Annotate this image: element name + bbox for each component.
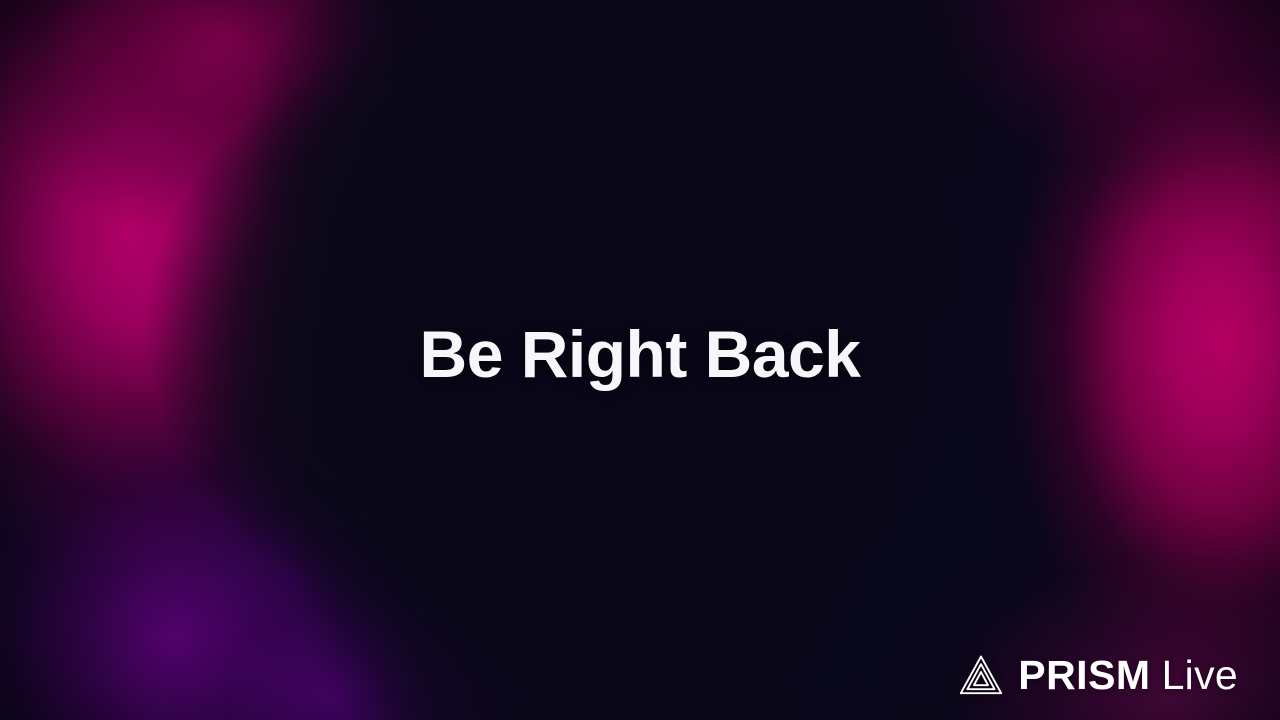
logo-live-text: Live bbox=[1162, 655, 1238, 696]
page-title: Be Right Back bbox=[0, 306, 1280, 402]
prism-live-logo: PRISM Live bbox=[958, 650, 1238, 700]
prism-live-wordmark: PRISM Live bbox=[1018, 655, 1238, 696]
brb-scene: Be Right Back PRISM Live bbox=[0, 0, 1280, 720]
logo-prism-text: PRISM bbox=[1018, 655, 1150, 696]
prism-nested-triangle-icon bbox=[958, 654, 1004, 696]
